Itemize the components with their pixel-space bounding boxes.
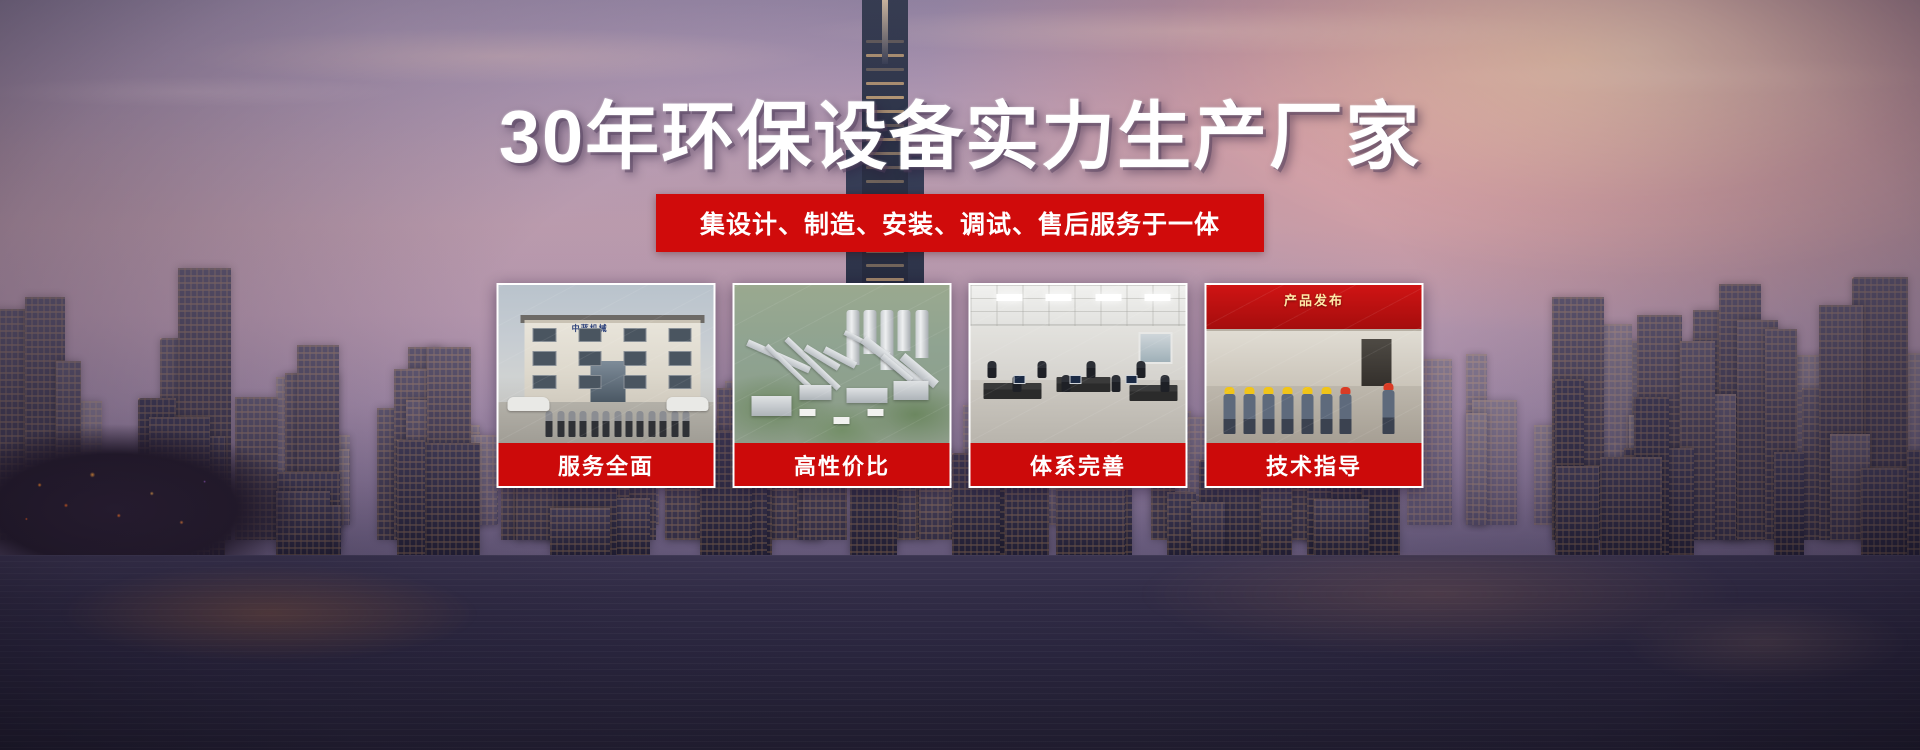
feature-card-label: 技术指导 bbox=[1207, 443, 1422, 486]
aerial-plant-photo bbox=[735, 285, 950, 443]
workshop-banner-text: 产品发布 bbox=[1207, 290, 1422, 309]
feature-card[interactable]: 体系完善 bbox=[969, 283, 1188, 488]
feature-card-label: 服务全面 bbox=[499, 443, 714, 486]
feature-card-label: 体系完善 bbox=[971, 443, 1186, 486]
banner-headline: 30年环保设备实力生产厂家 bbox=[0, 100, 1920, 174]
workshop-workers-photo: 产品发布 bbox=[1207, 285, 1422, 443]
feature-card[interactable]: 高性价比 bbox=[733, 283, 952, 488]
office-team-photo bbox=[971, 285, 1186, 443]
feature-card-list: 中蓝机械 服务全面 高性价比 bbox=[497, 283, 1424, 488]
banner-content: 30年环保设备实力生产厂家 集设计、制造、安装、调试、售后服务于一体 中蓝机械 … bbox=[0, 0, 1920, 750]
banner-subtitle-ribbon: 集设计、制造、安装、调试、售后服务于一体 bbox=[656, 194, 1264, 252]
hero-banner: 30年环保设备实力生产厂家 集设计、制造、安装、调试、售后服务于一体 中蓝机械 … bbox=[0, 0, 1920, 750]
company-building-photo: 中蓝机械 bbox=[499, 285, 714, 443]
feature-card-label: 高性价比 bbox=[735, 443, 950, 486]
feature-card[interactable]: 中蓝机械 服务全面 bbox=[497, 283, 716, 488]
feature-card[interactable]: 产品发布 技术指导 bbox=[1205, 283, 1424, 488]
